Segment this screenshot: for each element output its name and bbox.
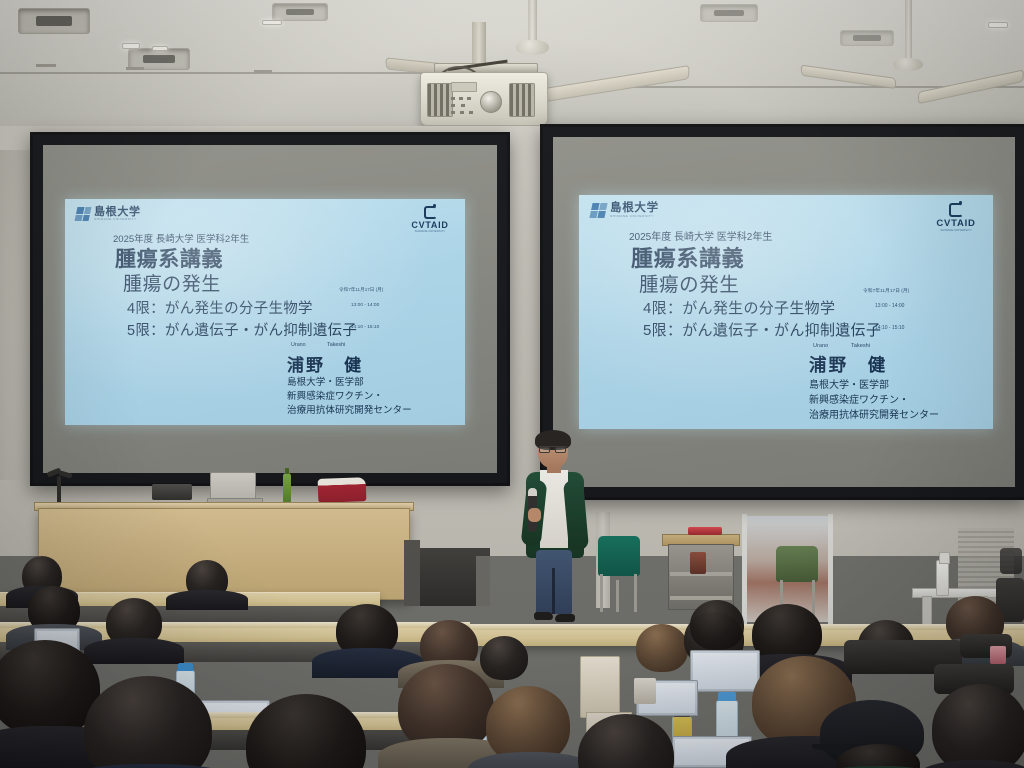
session-2-label: 5限：がん遺伝子・がん抑制遺伝子 [127, 319, 357, 340]
glasses-icon [539, 446, 567, 452]
ceiling-fan-rod [905, 0, 912, 60]
projector-indicators [451, 97, 477, 119]
presenter-shoe [555, 614, 575, 622]
ceiling-light [122, 43, 140, 49]
ceiling-vent [700, 4, 758, 22]
presenter-shoe [534, 612, 553, 620]
presenter-jeans [536, 550, 572, 614]
cart-red-item [688, 527, 722, 535]
ceiling-fan-hub [893, 58, 923, 71]
podium-laptop[interactable] [210, 472, 256, 502]
ceiling-light [152, 46, 168, 51]
av-rack-side [476, 556, 490, 606]
cvtaid-subtitle: SHIMANE UNIVERSITY [408, 230, 452, 233]
session-2-label: 5限：がん遺伝子・がん抑制遺伝子 [643, 319, 881, 340]
speaker-romaji-given: Takeshi [327, 342, 345, 348]
cvtaid-subtitle: SHIMANE UNIVERSITY [933, 229, 979, 232]
stacking-chair[interactable] [776, 546, 818, 582]
left-wall-panel [0, 150, 34, 480]
slide-title-sub: 腫瘍の発生 [123, 269, 221, 296]
laptop-screen [693, 653, 757, 689]
cart-shelf [670, 596, 732, 600]
cvtaid-logo: CVTAID SHIMANE UNIVERSITY [933, 203, 979, 232]
laptop[interactable] [690, 650, 760, 692]
student-shoulders [166, 590, 248, 610]
screen-surface: 島根大学 SHIMANE UNIVERSITY CVTAID SHIMANE U… [43, 145, 497, 473]
ceiling-fan-rod [528, 0, 537, 42]
red-bag[interactable] [318, 477, 367, 503]
university-logo-mark [589, 203, 607, 218]
speaker-affiliation-2: 新興感染症ワクチン・ [287, 388, 383, 402]
projector-mount [472, 22, 486, 68]
chair-leg [616, 580, 619, 612]
speaker-romaji-surname: Urano [291, 342, 306, 348]
university-name-en: SHIMANE UNIVERSITY [610, 215, 659, 218]
session-1-label: 4限：がん発生の分子生物学 [127, 297, 313, 318]
student-head [690, 600, 744, 650]
session-2-time: 14:10 - 15:10 [875, 325, 904, 331]
session-2-time: 14:10 - 15:10 [351, 325, 379, 330]
slide-left: 島根大学 SHIMANE UNIVERSITY CVTAID SHIMANE U… [65, 199, 465, 425]
speaker-romaji-surname: Urano [813, 343, 828, 349]
slide-date: 令和7年11月17日 (月) [339, 287, 383, 293]
green-bottle[interactable] [283, 473, 291, 503]
left-projection-screen: 島根大学 SHIMANE UNIVERSITY CVTAID SHIMANE U… [30, 132, 510, 486]
pink-item[interactable] [990, 646, 1006, 664]
university-name-jp: 島根大学 [610, 203, 659, 215]
presenter-hand [528, 508, 541, 522]
speaker-affiliation-1: 島根大学・医学部 [809, 376, 889, 391]
window-mullion [742, 514, 747, 624]
ceiling-light [988, 22, 1008, 28]
cvtaid-c-mark [424, 206, 437, 219]
chair-leg [634, 574, 637, 612]
ceiling-vent [18, 8, 90, 34]
student-shoulders [84, 638, 184, 664]
projector-label [451, 82, 477, 92]
ceiling-marker [126, 67, 144, 70]
projector-lens [480, 91, 502, 113]
hand-sanitizer-bottle[interactable] [936, 560, 949, 596]
student-head [636, 624, 688, 672]
speaker-romaji-given: Takeshi [851, 343, 870, 349]
microphone-stand [47, 470, 73, 504]
speaker-affiliation-2: 新興感染症ワクチン・ [809, 391, 909, 406]
lecture-hall-photo: 島根大学 SHIMANE UNIVERSITY CVTAID SHIMANE U… [0, 0, 1024, 768]
presenter [512, 432, 604, 628]
university-logo-mark [75, 207, 92, 221]
session-1-time: 13:00 - 14:00 [875, 303, 904, 309]
ceiling-vent [272, 3, 328, 21]
cvtaid-logo: CVTAID SHIMANE UNIVERSITY [408, 206, 452, 233]
slide-title-sub: 腫瘍の発生 [639, 268, 739, 297]
ceiling-light [262, 20, 282, 25]
shimane-university-logo: 島根大学 SHIMANE UNIVERSITY [76, 207, 141, 221]
cvtaid-c-mark [949, 203, 963, 217]
projector-vent [427, 83, 453, 117]
speaker-affiliation-3: 治療用抗体研究開発センター [287, 402, 412, 416]
slide-date: 令和7年11月17日 (月) [863, 287, 909, 294]
desk-edge [470, 624, 1024, 630]
ceiling-marker [36, 64, 56, 67]
shimane-university-logo: 島根大学 SHIMANE UNIVERSITY [591, 203, 659, 218]
office-chair-back [1000, 548, 1022, 574]
session-1-label: 4限：がん発生の分子生物学 [643, 297, 835, 318]
right-projection-screen: 島根大学 SHIMANE UNIVERSITY CVTAID SHIMANE U… [540, 124, 1024, 500]
paper-bag[interactable] [580, 656, 620, 718]
student-head [932, 684, 1024, 768]
lectern-side-panel [404, 540, 420, 606]
screen-surface: 島根大学 SHIMANE UNIVERSITY CVTAID SHIMANE U… [553, 137, 1015, 487]
session-1-time: 13:00 - 14:00 [351, 303, 379, 308]
speaker-affiliation-3: 治療用抗体研究開発センター [809, 406, 939, 421]
cvtaid-name: CVTAID [408, 220, 452, 230]
bottle-cap [178, 663, 193, 671]
cart-box [690, 552, 706, 574]
ceiling-fan-hub [516, 40, 549, 55]
chair-leg [812, 580, 815, 616]
bottle-cap [718, 692, 736, 701]
stacking-chair[interactable] [598, 536, 640, 576]
speaker-name: 浦野 健 [809, 352, 887, 377]
speaker-name: 浦野 健 [287, 351, 363, 376]
student-head [480, 636, 528, 680]
slide-right: 島根大学 SHIMANE UNIVERSITY CVTAID SHIMANE U… [579, 195, 993, 429]
cvtaid-name: CVTAID [933, 218, 979, 229]
projector-vent [509, 83, 535, 117]
ceiling-seam [0, 72, 430, 74]
window-mullion [828, 514, 833, 624]
ceiling-projector [420, 72, 548, 126]
cup[interactable] [634, 678, 656, 704]
ceiling-marker [254, 70, 272, 73]
speaker-affiliation-1: 島根大学・医学部 [287, 374, 364, 388]
university-name-en: SHIMANE UNIVERSITY [94, 218, 141, 221]
podium-equipment [152, 484, 192, 500]
ceiling-vent [840, 30, 894, 46]
